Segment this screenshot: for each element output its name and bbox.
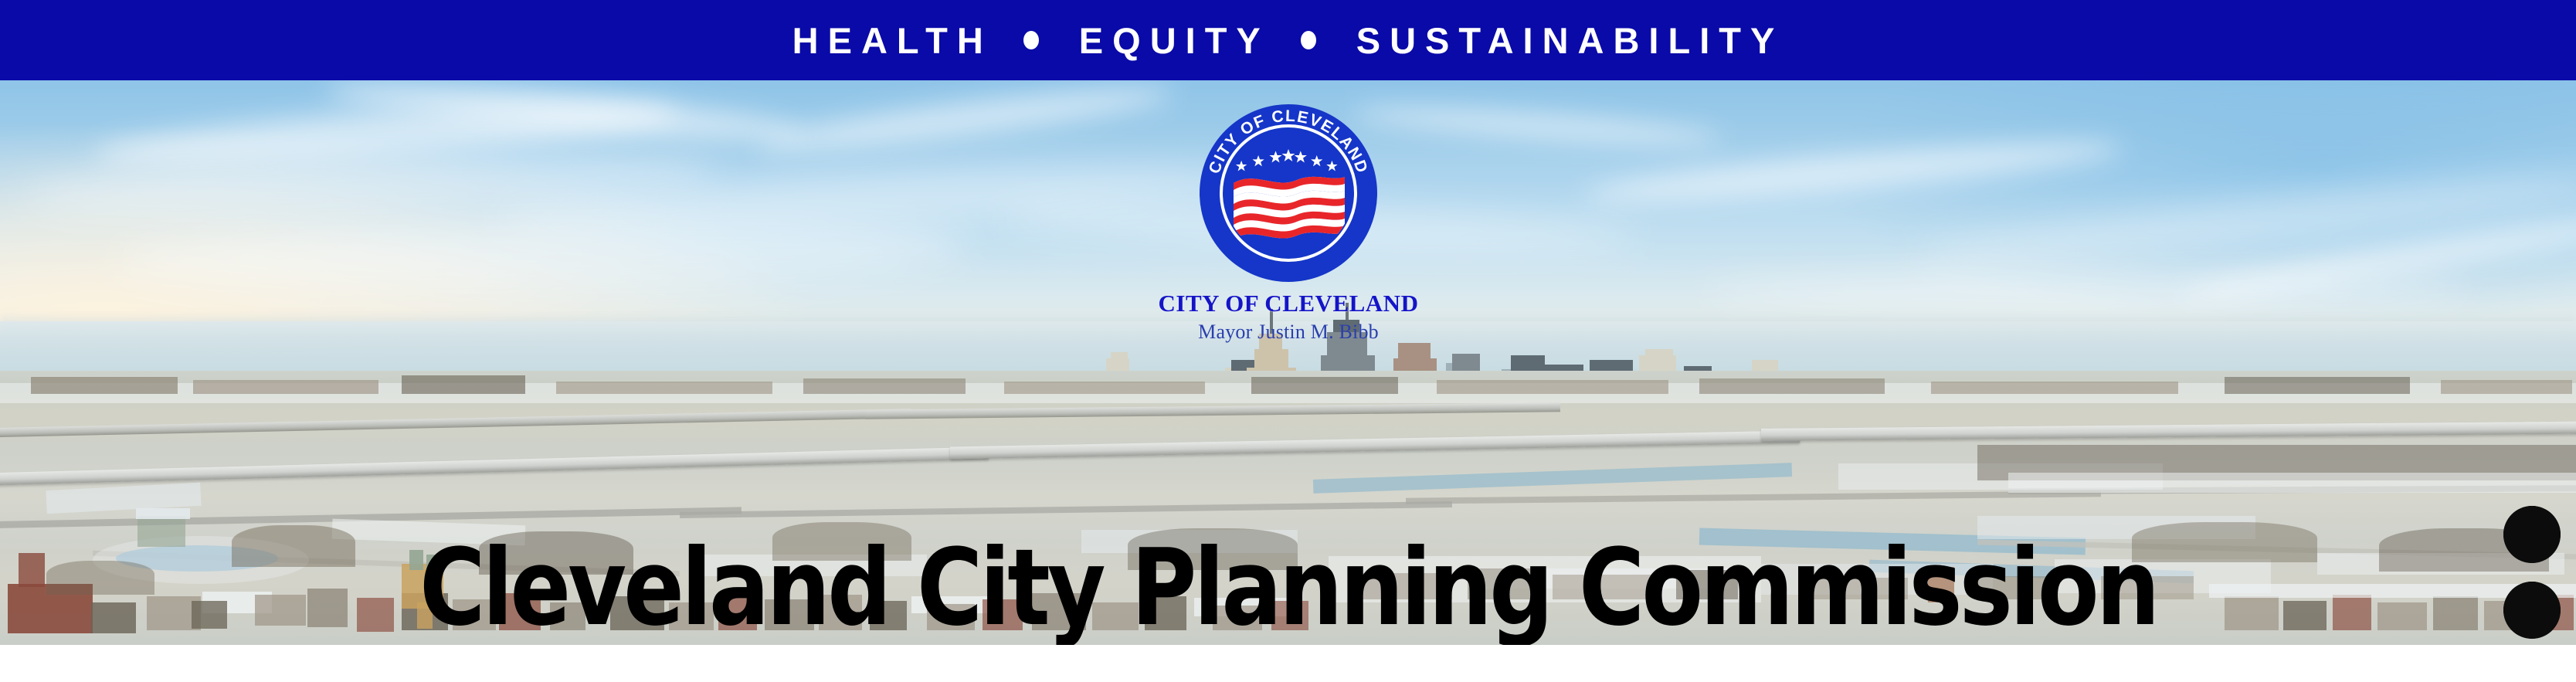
tagline-separator-dot-2 — [1301, 31, 1316, 49]
seal-flag-icon — [1229, 169, 1348, 249]
tagline-word-health: HEALTH — [792, 22, 993, 59]
tagline-word-sustainability: SUSTAINABILITY — [1356, 22, 1784, 59]
seal-emblem — [1224, 129, 1352, 257]
freeway-deck — [0, 446, 989, 486]
city-of-cleveland-seal-icon: CITY OF CLEVELAND OHIO — [1200, 104, 1377, 282]
social-link-instagram[interactable] — [2503, 582, 2561, 639]
instagram-icon — [2503, 582, 2561, 639]
freeway-deck — [1761, 421, 2576, 441]
tagline-banner: HEALTH EQUITY SUSTAINABILITY — [0, 0, 2576, 80]
social-link-youtube[interactable] — [2503, 506, 2561, 563]
tagline-word-equity: EQUITY — [1079, 22, 1270, 59]
tagline-separator-dot-1 — [1023, 31, 1039, 49]
organization-name: CITY OF CLEVELAND — [1091, 290, 1485, 317]
youtube-icon — [2503, 506, 2561, 563]
tagline-banner-inner: HEALTH EQUITY SUSTAINABILITY — [792, 22, 1784, 59]
page-root: HEALTH EQUITY SUSTAINABILITY — [0, 0, 2576, 682]
urban-ground — [0, 371, 2576, 645]
social-links — [2503, 506, 2561, 645]
city-seal-block: CITY OF CLEVELAND OHIO — [1091, 104, 1485, 328]
hero-photo: CITY OF CLEVELAND OHIO — [0, 80, 2576, 645]
mayor-name: Mayor Justin M. Bibb — [1091, 321, 1485, 344]
freeway-deck — [950, 430, 1800, 459]
